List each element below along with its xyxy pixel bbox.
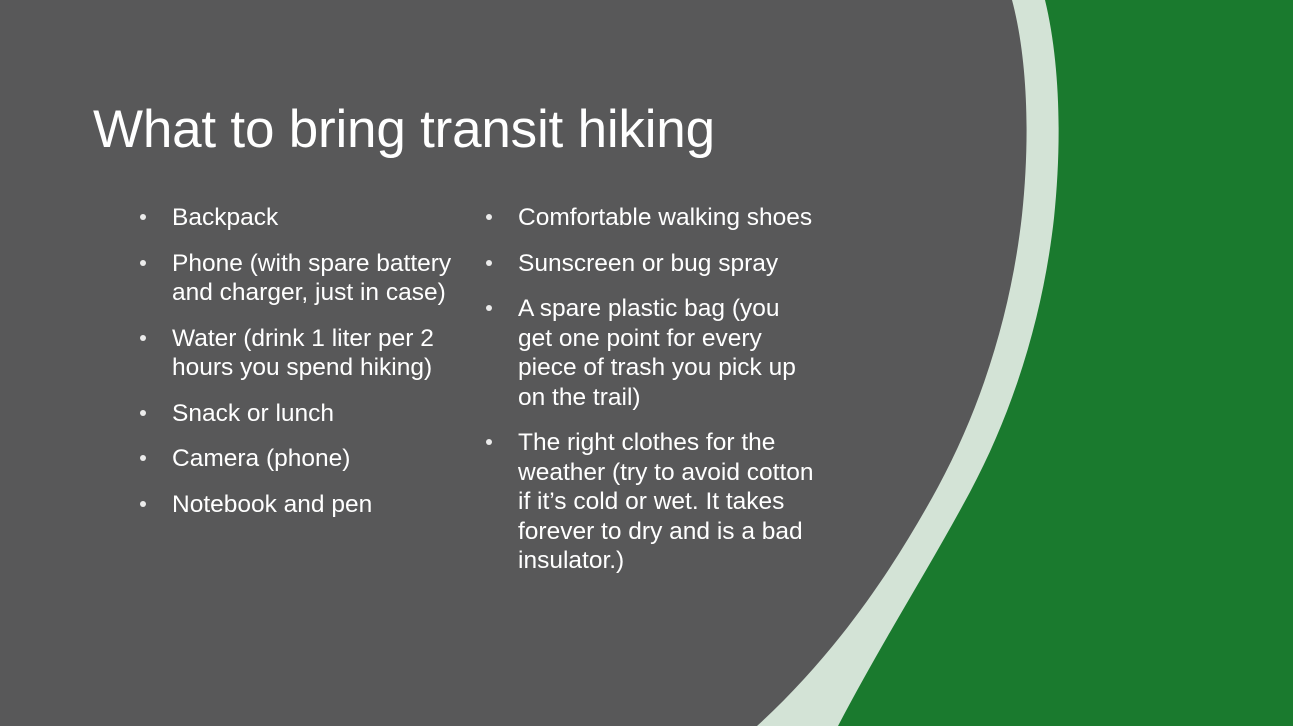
- bullet-content-area: Backpack Phone (with spare battery and c…: [140, 203, 860, 576]
- bullet-dot-icon: [486, 249, 506, 266]
- list-item-label: Notebook and pen: [160, 490, 486, 520]
- presentation-slide: What to bring transit hiking Backpack Ph…: [0, 0, 1293, 726]
- list-item-label: Backpack: [160, 203, 486, 233]
- list-item: Camera (phone): [140, 444, 486, 474]
- list-item-label: Phone (with spare battery and charger, j…: [160, 249, 486, 308]
- list-item-label: The right clothes for the weather (try t…: [506, 428, 816, 576]
- bullet-column-left: Backpack Phone (with spare battery and c…: [140, 203, 486, 519]
- list-item: Phone (with spare battery and charger, j…: [140, 249, 486, 308]
- list-item: A spare plastic bag (you get one point f…: [486, 294, 816, 412]
- list-item: Water (drink 1 liter per 2 hours you spe…: [140, 324, 486, 383]
- list-item-label: Sunscreen or bug spray: [506, 249, 816, 279]
- bullet-dot-icon: [486, 294, 506, 311]
- list-item: Notebook and pen: [140, 490, 486, 520]
- bullet-dot-icon: [140, 399, 160, 416]
- list-item: Comfortable walking shoes: [486, 203, 816, 233]
- list-item-label: Snack or lunch: [160, 399, 486, 429]
- bullet-dot-icon: [140, 249, 160, 266]
- list-item-label: Camera (phone): [160, 444, 486, 474]
- bullet-column-right: Comfortable walking shoes Sunscreen or b…: [486, 203, 816, 576]
- bullet-dot-icon: [140, 490, 160, 507]
- bullet-dot-icon: [140, 203, 160, 220]
- list-item: Snack or lunch: [140, 399, 486, 429]
- bullet-dot-icon: [486, 203, 506, 220]
- bullet-dot-icon: [140, 444, 160, 461]
- bullet-dot-icon: [140, 324, 160, 341]
- list-item-label: A spare plastic bag (you get one point f…: [506, 294, 816, 412]
- list-item: The right clothes for the weather (try t…: [486, 428, 816, 576]
- page-title: What to bring transit hiking: [93, 99, 933, 161]
- list-item-label: Water (drink 1 liter per 2 hours you spe…: [160, 324, 486, 383]
- list-item-label: Comfortable walking shoes: [506, 203, 816, 233]
- list-item: Sunscreen or bug spray: [486, 249, 816, 279]
- list-item: Backpack: [140, 203, 486, 233]
- bullet-dot-icon: [486, 428, 506, 445]
